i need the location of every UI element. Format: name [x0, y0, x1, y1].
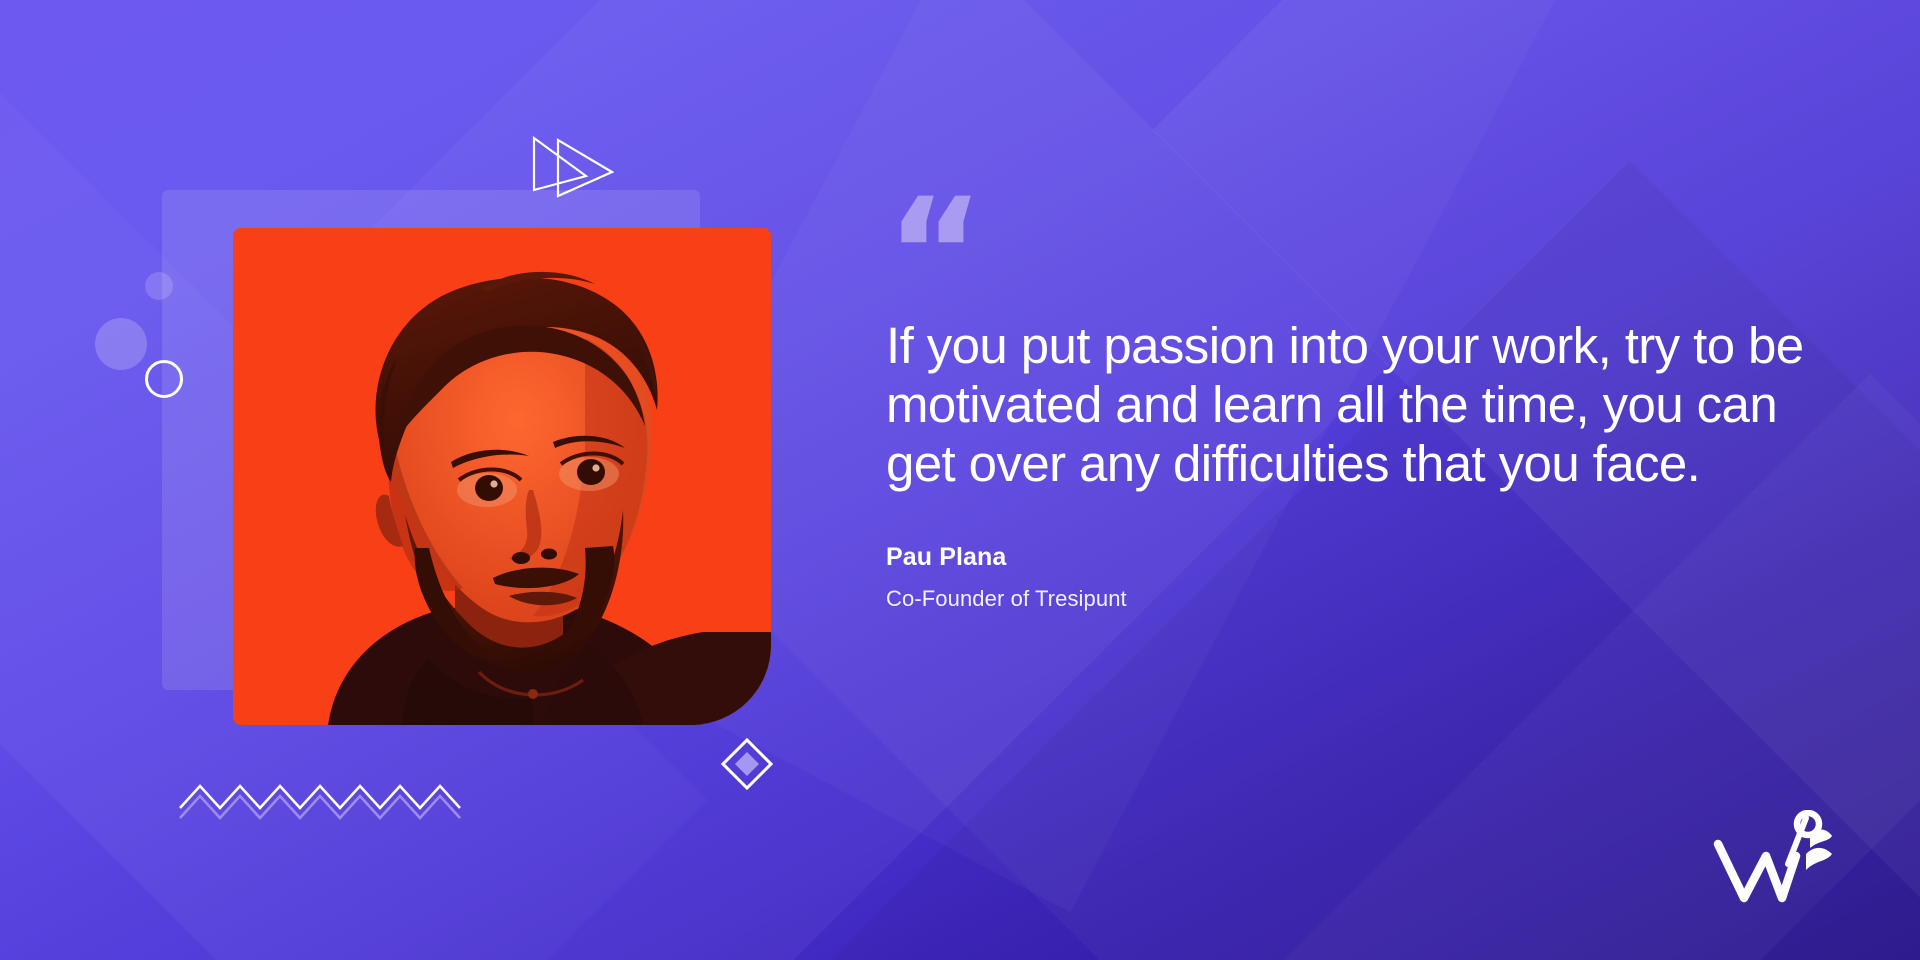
portrait-photo — [233, 228, 771, 725]
quote-text: If you put passion into your work, try t… — [886, 316, 1846, 493]
zigzag-icon — [178, 778, 468, 822]
w-flag-logo[interactable] — [1710, 810, 1832, 908]
small-circle-icon — [145, 272, 173, 300]
author-name: Pau Plana — [886, 543, 1876, 572]
triangles-icon — [524, 128, 614, 198]
author-role: Co-Founder of Tresipunt — [886, 586, 1876, 612]
quote-card: “ If you put passion into your work, try… — [0, 0, 1920, 960]
diamond-icon — [718, 735, 776, 793]
ring-circle-icon — [145, 360, 183, 398]
large-circle-icon — [95, 318, 147, 370]
open-quote-icon: “ — [886, 200, 1876, 292]
quote-block: “ If you put passion into your work, try… — [886, 200, 1876, 612]
